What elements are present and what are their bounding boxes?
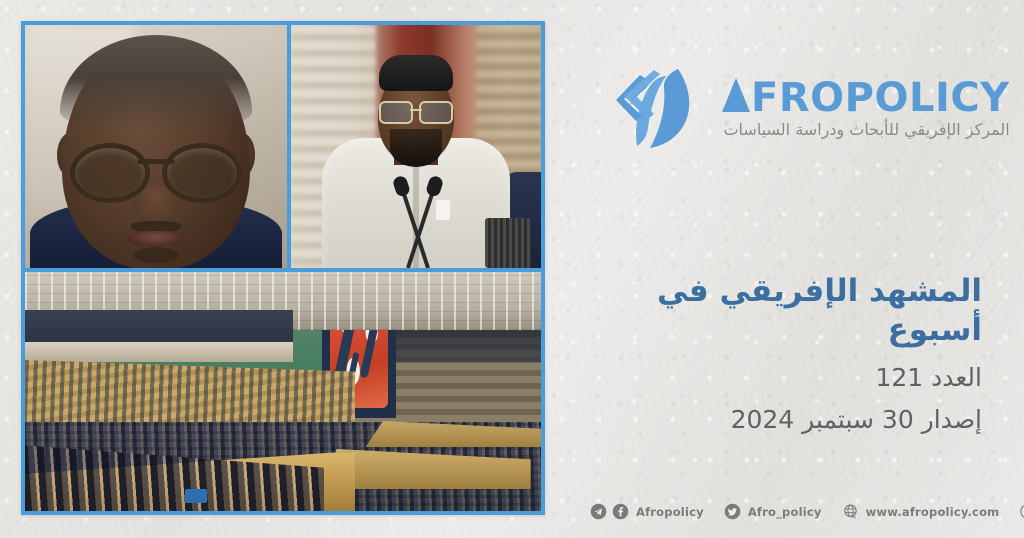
contact-label-website: www.afropolicy.com <box>866 505 1000 519</box>
right-panel: FROPOLICY المركز الإفريقي للأبحاث ودراسة… <box>568 0 1024 538</box>
poster-canvas: FROPOLICY المركز الإفريقي للأبحاث ودراسة… <box>0 0 1024 538</box>
photo-official-at-podium <box>291 25 541 268</box>
photo-un-general-assembly-hall <box>25 272 541 511</box>
brand-wordmark: FROPOLICY <box>722 77 1010 118</box>
photo-portrait-official-glasses <box>25 25 287 268</box>
brand-wordmark-rest: FROPOLICY <box>751 75 1010 121</box>
brand-initial-triangle <box>722 78 750 112</box>
twitter-icon[interactable] <box>724 503 741 520</box>
brand-logo: FROPOLICY المركز الإفريقي للأبحاث ودراسة… <box>616 66 1010 150</box>
issue-date: إصدار 30 سبتمبر 2024 <box>568 404 982 437</box>
publication-title: المشهد الإفريقي في أسبوع <box>568 272 982 350</box>
whatsapp-icon[interactable] <box>1019 503 1024 520</box>
issue-number: العدد 121 <box>568 362 982 395</box>
facebook-icon[interactable] <box>612 503 629 520</box>
contact-label-afropolicy: Afropolicy <box>636 505 704 519</box>
brand-arabic-subtitle: المركز الإفريقي للأبحاث ودراسة السياسات <box>722 120 1010 139</box>
contact-footer: Afropolicy Afro_policy <box>568 503 1024 520</box>
contact-item-twitter[interactable]: Afro_policy <box>724 503 822 520</box>
contact-item-website[interactable]: www.afropolicy.com <box>842 503 1000 520</box>
contact-item-whatsapp[interactable]: +90 534 703 38 09 <box>1019 503 1024 520</box>
contact-label-twitter: Afro_policy <box>748 505 822 519</box>
telegram-icon[interactable] <box>590 503 607 520</box>
photo-collage <box>21 21 545 515</box>
globe-icon[interactable] <box>842 503 859 520</box>
heading-block: المشهد الإفريقي في أسبوع العدد 121 إصدار… <box>568 272 982 437</box>
afropolicy-leaf-logo-icon <box>616 66 708 150</box>
contact-item-social-afropolicy[interactable]: Afropolicy <box>590 503 704 520</box>
